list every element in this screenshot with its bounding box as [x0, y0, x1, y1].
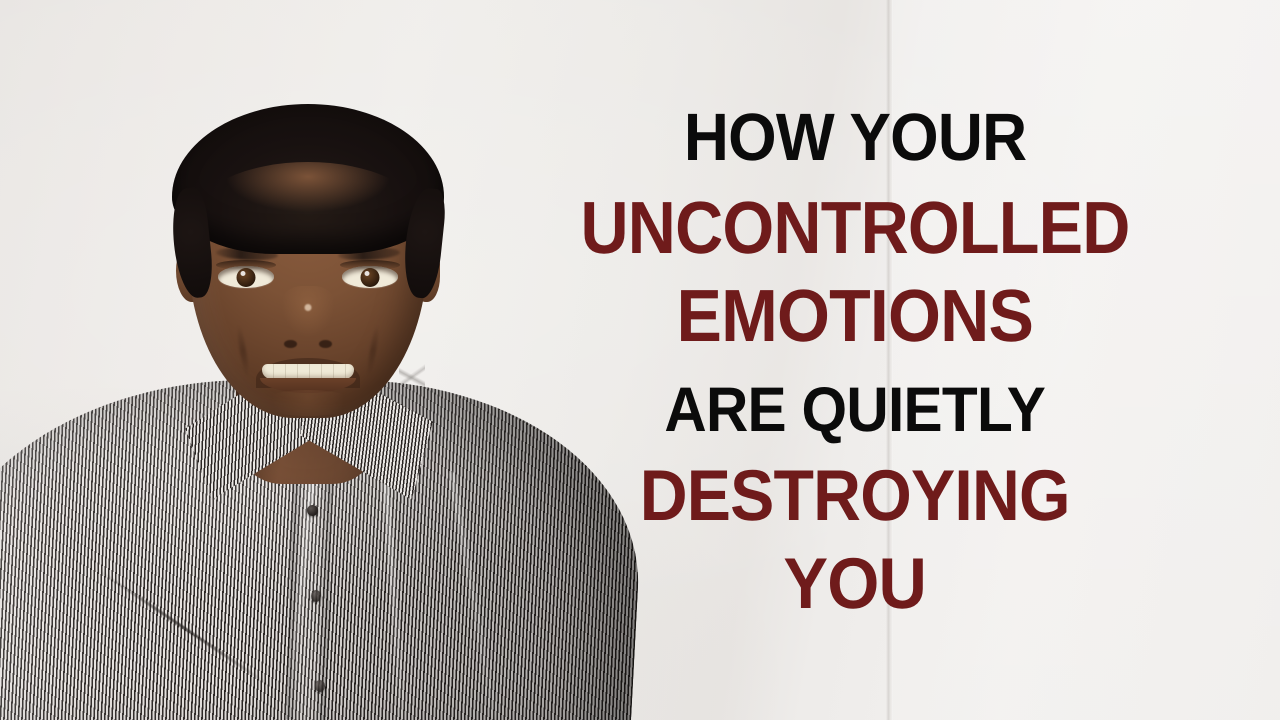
video-thumbnail: HOW YOUR UNCONTROLLED EMOTIONS ARE QUIET…: [0, 0, 1280, 720]
eyelid-left: [216, 260, 276, 270]
iris-right: [361, 268, 380, 287]
mouth: [256, 358, 360, 388]
nose-highlight: [305, 304, 312, 311]
teeth: [262, 364, 354, 379]
nostril-left: [284, 340, 297, 348]
shirt-button: [307, 505, 318, 516]
subject-person: [0, 80, 660, 720]
head: [188, 118, 428, 418]
eyelid-right: [340, 260, 400, 270]
wall-seam-line: [886, 0, 893, 720]
shirt-button: [315, 680, 325, 692]
wall-right-panel: [892, 0, 1280, 720]
iris-left: [237, 268, 256, 287]
chin: [260, 390, 356, 416]
hair: [172, 104, 444, 254]
shirt-button: [311, 590, 321, 602]
nostril-right: [319, 340, 332, 348]
